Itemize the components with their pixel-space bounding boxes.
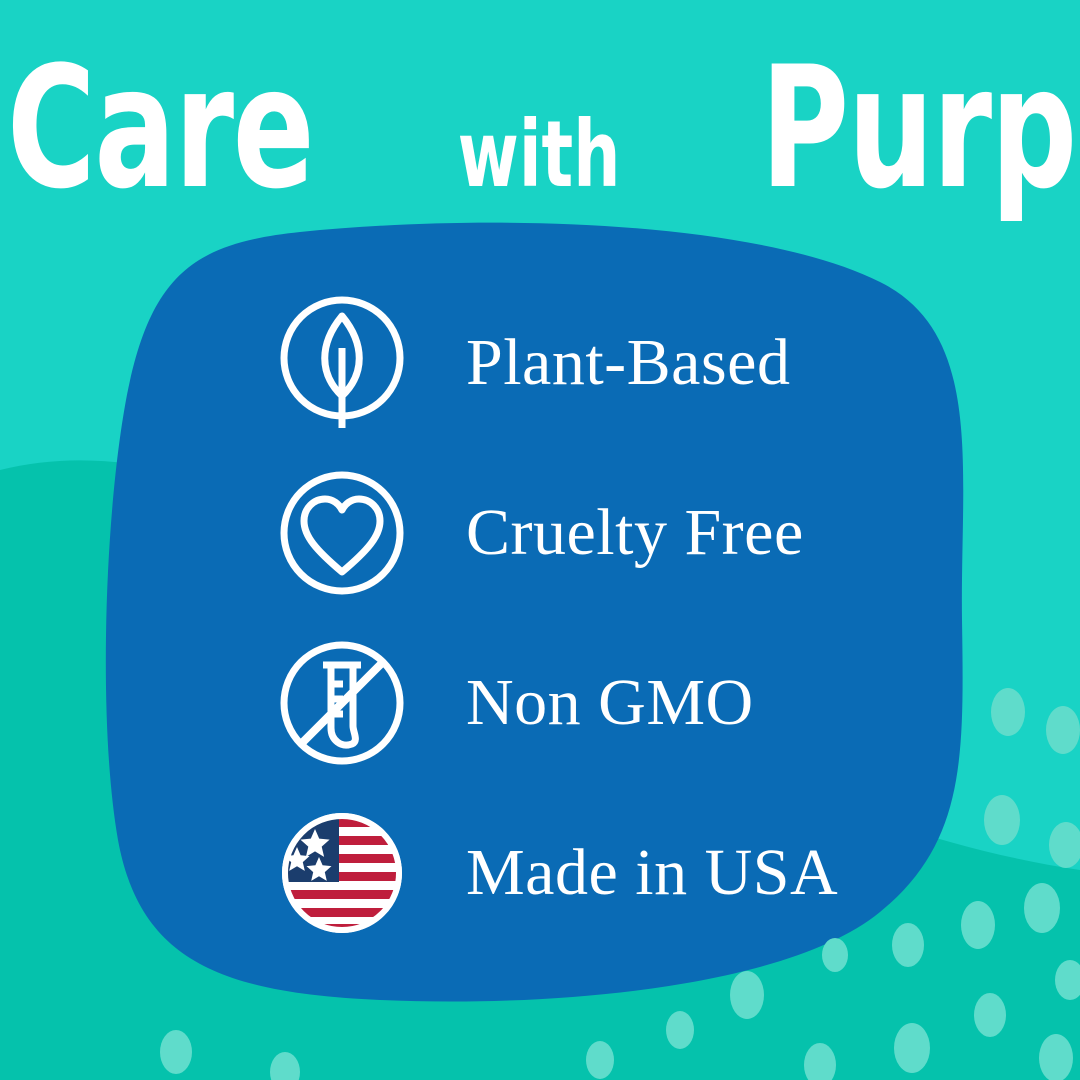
leaf-icon [268, 289, 416, 437]
benefits-list: Plant-Based Cruelty Free [268, 278, 908, 958]
benefit-label: Non GMO [466, 670, 754, 736]
usa-flag-icon [268, 799, 416, 947]
benefit-label: Plant-Based [466, 330, 790, 396]
benefit-row-made-in-usa: Made in USA [268, 788, 908, 958]
no-gmo-icon [268, 629, 416, 777]
promo-banner: Pet Care with Purpose ® Plant-Based [0, 0, 1080, 1080]
headline: Pet Care with Purpose ® [0, 18, 1080, 198]
headline-word-with: with [456, 117, 622, 192]
headline-word-purpose: Purpose [761, 60, 1080, 198]
benefit-row-cruelty-free: Cruelty Free [268, 448, 908, 618]
benefit-label: Cruelty Free [466, 500, 804, 566]
benefit-row-plant-based: Plant-Based [268, 278, 908, 448]
benefit-label: Made in USA [466, 840, 838, 906]
headline-word-pet-care: Pet Care [0, 60, 313, 198]
heart-icon [268, 459, 416, 607]
benefit-row-non-gmo: Non GMO [268, 618, 908, 788]
